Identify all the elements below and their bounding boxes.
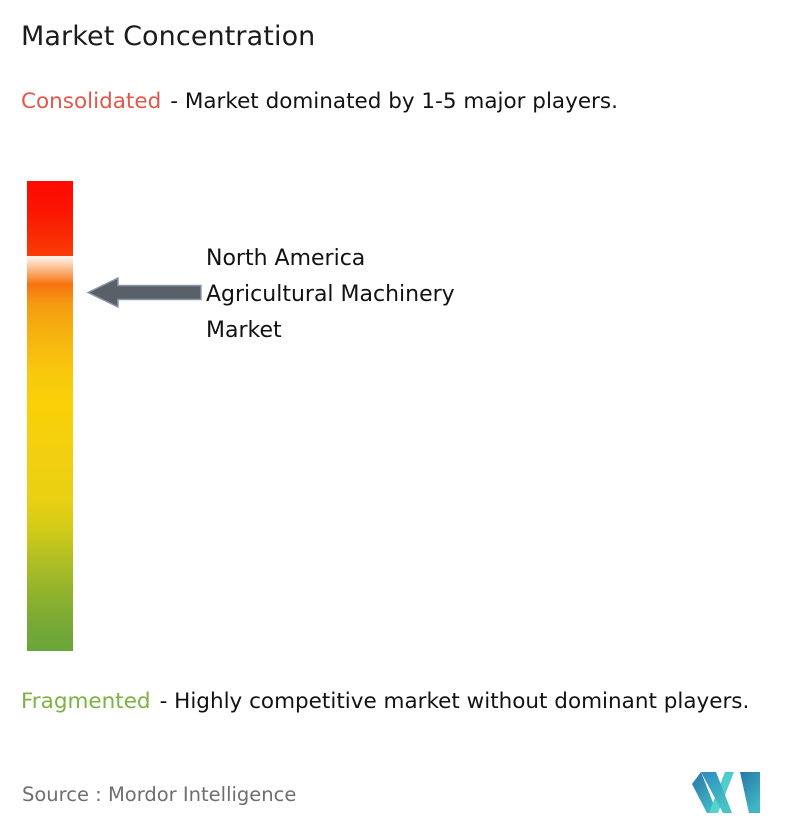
- legend-fragmented-description: - Highly competitive market without domi…: [160, 689, 750, 714]
- legend-consolidated-keyword: Consolidated: [21, 89, 161, 114]
- source-attribution: Source : Mordor Intelligence: [22, 782, 296, 808]
- market-concentration-infographic: Market Concentration Consolidated- Marke…: [0, 0, 796, 834]
- mordor-intelligence-logo-icon: [692, 772, 760, 813]
- callout-line-3: Market: [206, 313, 606, 349]
- market-callout-label: North America Agricultural Machinery Mar…: [206, 241, 606, 349]
- legend-fragmented: Fragmented- Highly competitive market wi…: [21, 686, 789, 717]
- callout-line-1: North America: [206, 241, 606, 277]
- callout-line-2: Agricultural Machinery: [206, 277, 606, 313]
- market-position-arrow: [88, 277, 201, 308]
- page-title: Market Concentration: [21, 20, 315, 54]
- concentration-gradient-scale: [27, 181, 73, 651]
- legend-consolidated: Consolidated- Market dominated by 1-5 ma…: [21, 86, 781, 117]
- arrow-left-icon: [88, 278, 201, 307]
- legend-consolidated-description: - Market dominated by 1-5 major players.: [170, 89, 618, 114]
- legend-fragmented-keyword: Fragmented: [21, 689, 151, 714]
